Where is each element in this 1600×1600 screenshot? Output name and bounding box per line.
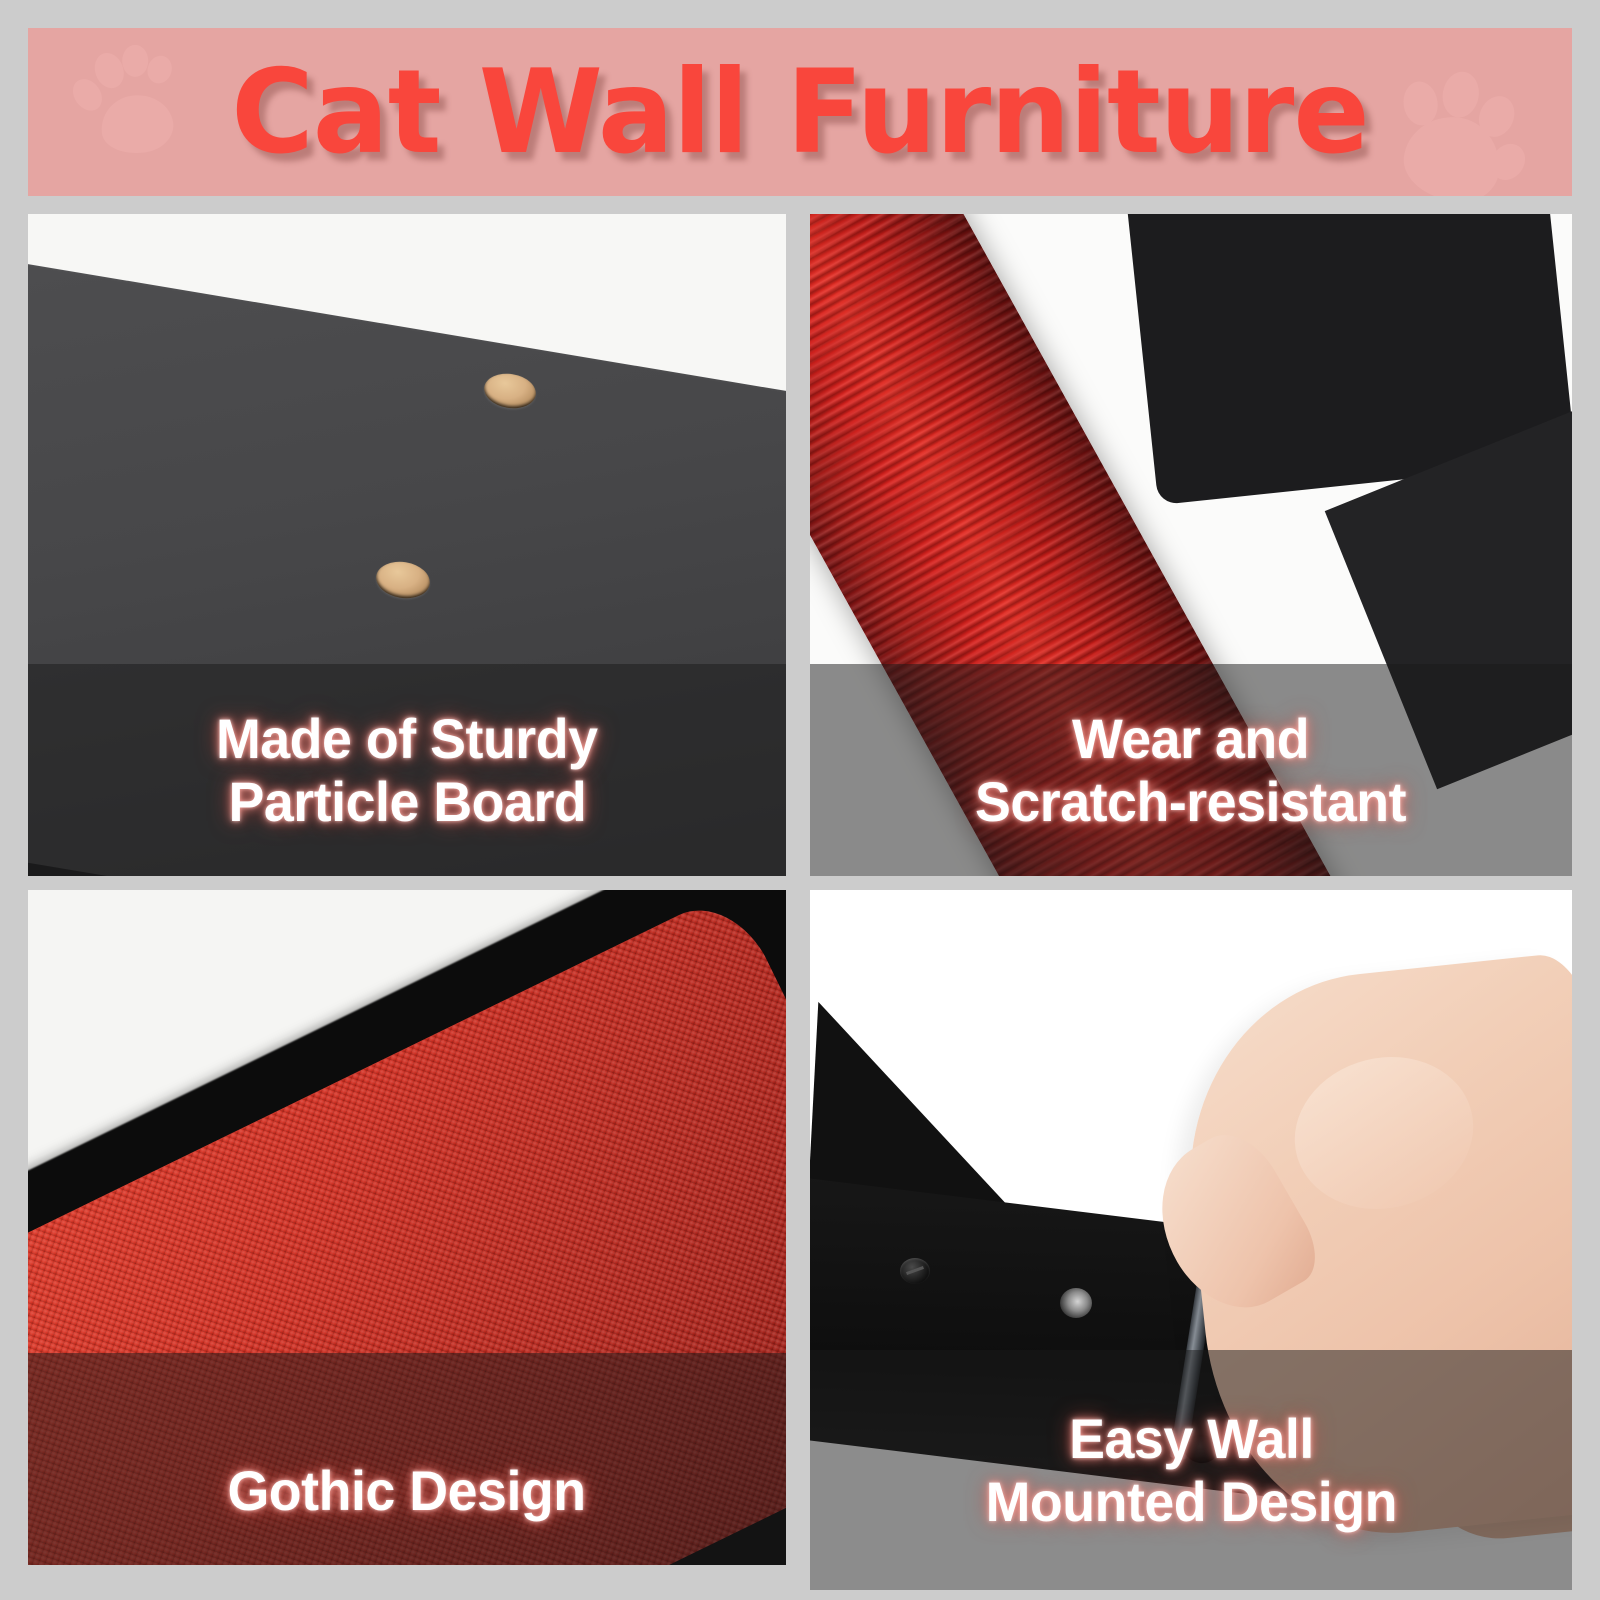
particle-board-photo	[28, 214, 786, 876]
gothic-mat-photo	[28, 890, 786, 1565]
page-title: Cat Wall Furniture	[51, 28, 1549, 196]
infographic-page: Cat Wall Furniture Made of Sturdy Partic…	[0, 0, 1600, 1600]
sisal-rope-post-photo	[810, 214, 1572, 876]
feature-tile-easy-wall-mounted-design: Easy Wall Mounted Design	[810, 890, 1572, 1590]
feature-tile-gothic-design: Gothic Design	[28, 890, 786, 1565]
screw-hole-icon	[1060, 1288, 1092, 1318]
black-board-surface	[28, 244, 786, 876]
feature-tile-wear-and-scratch-resistant: Wear and Scratch-resistant	[810, 214, 1572, 876]
bottom-gutter-filler	[28, 1565, 786, 1600]
header-banner: Cat Wall Furniture	[28, 28, 1572, 196]
screw-head-icon	[900, 1258, 930, 1284]
feature-tile-made-of-sturdy-particle-board: Made of Sturdy Particle Board	[28, 214, 786, 876]
wall-mount-installation-photo	[810, 890, 1572, 1590]
